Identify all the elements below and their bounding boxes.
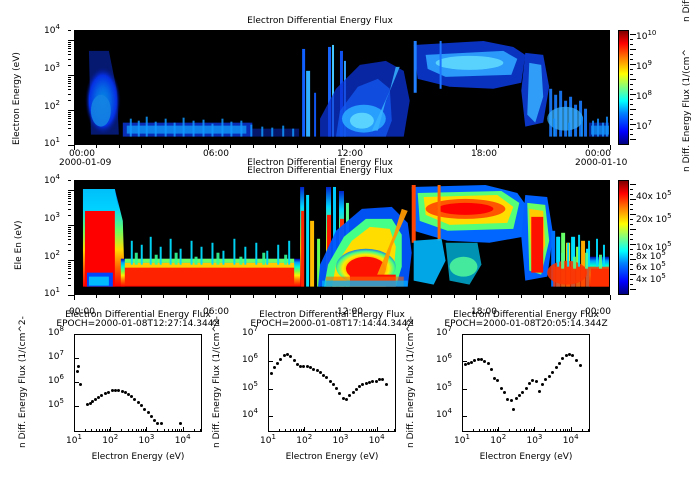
- data-point: [100, 394, 103, 397]
- panel1-cbar-tick-2: 108: [636, 92, 652, 102]
- spectrum-2-xtick-3: 104: [369, 436, 385, 446]
- panel1-ytick-minor: [68, 51, 71, 52]
- data-point: [140, 404, 143, 407]
- panel2-colorbar-label: n Diff. Energy Flux (1/(cm^: [682, 49, 692, 172]
- data-point: [345, 398, 348, 401]
- panel1-ytick-minor: [68, 40, 74, 41]
- panel2-ytick-minor: [68, 262, 71, 263]
- minor-tick-mark: [301, 429, 302, 432]
- tick-mark: [110, 427, 111, 432]
- panel1-spectrogram-image: [75, 31, 609, 145]
- data-point: [361, 383, 364, 386]
- panel1-xtick-minor: [498, 145, 499, 148]
- panel2-xtick-minor: [610, 295, 611, 300]
- panel2-colorbar-tick: [630, 194, 633, 195]
- tick-mark: [304, 427, 305, 432]
- panel1-colorbar-tick: [630, 54, 633, 55]
- tick-mark: [146, 427, 147, 432]
- panel1-xtick-minor: [186, 145, 187, 148]
- panel2-ytick-minor: [68, 250, 71, 251]
- tick-mark: [268, 389, 273, 390]
- data-point: [319, 371, 322, 374]
- panel1-xtick-minor: [253, 145, 254, 148]
- minor-tick-mark: [388, 429, 389, 432]
- spectrum-2-ylabel: n Diff. Energy Flux (1/(cm^2-: [212, 316, 222, 448]
- spectrum-2-xtick-2: 103: [332, 436, 348, 446]
- minor-tick-mark: [526, 429, 527, 432]
- panel1-ytick-minor: [68, 75, 74, 76]
- data-point: [133, 398, 136, 401]
- panel1-xtick-minor: [521, 145, 522, 148]
- panel2-colorbar-tick: [630, 204, 633, 205]
- data-point: [117, 389, 120, 392]
- panel2-ytick-minor: [68, 227, 71, 228]
- panel2-colorbar-tick: [630, 229, 636, 230]
- panel1-colorbar-tick: [630, 59, 633, 60]
- tick-mark: [268, 334, 273, 335]
- panel1-ytick-minor: [68, 59, 71, 60]
- panel1-colorbar-tick: [630, 114, 633, 115]
- minor-tick-mark: [560, 429, 561, 432]
- spectrum-2-xlabel: Electron Energy (eV): [228, 452, 436, 462]
- panel1-ytick-1: 103: [44, 64, 60, 74]
- panel2-xtick-minor: [230, 295, 231, 298]
- minor-tick-mark: [533, 429, 534, 432]
- panel2-xtick-minor: [409, 295, 410, 298]
- panel2-colorbar-tick: [630, 259, 636, 260]
- data-point: [312, 368, 315, 371]
- panel1-colorbar-tick: [630, 74, 633, 75]
- panel2-colorbar-tick: [630, 269, 633, 270]
- spectrum-1-plot[interactable]: [74, 334, 202, 432]
- spectrum-1-ytick-2: 106: [48, 376, 64, 386]
- minor-tick-mark: [107, 429, 108, 432]
- tick-mark: [268, 416, 273, 417]
- spectrum-2-xtick-1: 102: [296, 436, 312, 446]
- tick-mark: [462, 427, 463, 432]
- panel1-colorbar-tick: [630, 119, 633, 120]
- tick-mark: [74, 406, 79, 407]
- tick-mark: [462, 389, 467, 390]
- spectrum-3-xtick-3: 104: [563, 436, 579, 446]
- data-point: [487, 362, 490, 365]
- panel2-xtick-minor: [74, 295, 75, 300]
- data-point: [143, 408, 146, 411]
- data-point: [137, 401, 140, 404]
- data-point: [558, 362, 561, 365]
- data-point: [548, 375, 551, 378]
- minor-tick-mark: [375, 429, 376, 432]
- minor-tick-mark: [315, 429, 316, 432]
- minor-tick-mark: [369, 429, 370, 432]
- data-point: [293, 359, 296, 362]
- spectrum-2-xtick-0: 101: [260, 436, 276, 446]
- data-point: [335, 387, 338, 390]
- minor-tick-mark: [296, 429, 297, 432]
- data-point: [79, 383, 82, 386]
- panel2-cbar-tick-5: 4x 105: [636, 275, 666, 285]
- panel2-ytick-0: 104: [44, 176, 60, 186]
- panel1-ytick-minor: [68, 110, 74, 111]
- minor-tick-mark: [524, 429, 525, 432]
- data-point: [571, 354, 574, 357]
- panel2-xtick-minor: [186, 295, 187, 298]
- minor-tick-mark: [335, 429, 336, 432]
- panel1-colorbar-tick: [630, 129, 633, 130]
- minor-tick-mark: [358, 429, 359, 432]
- panel1-ytick-minor: [68, 54, 71, 55]
- panel1-ytick-minor: [68, 46, 71, 47]
- panel1-colorbar[interactable]: [618, 30, 629, 145]
- panel1-colorbar-tick: [630, 79, 636, 80]
- panel1-xtick-minor: [431, 145, 432, 148]
- panel2-ytick-minor: [68, 278, 71, 279]
- panel1-colorbar-tick: [630, 89, 633, 90]
- panel1-xtick-minor: [74, 145, 75, 150]
- panel1-colorbar-tick: [630, 109, 636, 110]
- data-point: [521, 391, 524, 394]
- minor-tick-mark: [484, 429, 485, 432]
- panel1-ytick-minor: [68, 83, 71, 84]
- minor-tick-mark: [588, 429, 589, 432]
- panel1-ytick-minor: [68, 86, 71, 87]
- minor-tick-mark: [85, 429, 86, 432]
- panel2-ytick-minor: [68, 266, 71, 267]
- panel2-xtick-minor: [364, 295, 365, 298]
- panel2-xtick-minor: [498, 295, 499, 298]
- panel2-xtick-minor: [320, 295, 321, 298]
- spectrum-3-xtick-2: 103: [526, 436, 542, 446]
- tick-mark: [534, 427, 535, 432]
- spectrum-3-ytick-2: 105: [436, 383, 452, 393]
- spectrum-1-xtick-3: 104: [175, 436, 191, 446]
- panel2-colorbar-tick: [630, 234, 633, 235]
- spectrum-3-ytick-3: 104: [436, 410, 452, 420]
- panel2-ytick-minor: [68, 271, 71, 272]
- panel1-colorbar-tick: [630, 84, 633, 85]
- panel2-ytick-minor: [68, 201, 71, 202]
- panel1-xtick-minor: [409, 145, 410, 148]
- spectrum-2-ytick-0: 107: [242, 328, 258, 338]
- spectrum-1-xtick-1: 102: [102, 436, 118, 446]
- panel2-cbar-tick-1: 20x 105: [636, 215, 672, 225]
- tick-mark: [268, 361, 273, 362]
- panel1-cbar-tick-1: 109: [636, 62, 652, 72]
- spectrum-2-ytick-3: 104: [242, 410, 258, 420]
- tick-mark: [74, 382, 79, 383]
- panel2-ytick-minor: [68, 231, 71, 232]
- minor-tick-mark: [293, 429, 294, 432]
- data-point: [107, 391, 110, 394]
- spectrum-1-xtick-0: 101: [66, 436, 82, 446]
- minor-tick-mark: [138, 429, 139, 432]
- panel1-colorbar-tick: [630, 139, 636, 140]
- tick-mark: [462, 334, 467, 335]
- panel1-ytick-3: 101: [44, 139, 60, 149]
- minor-tick-mark: [121, 429, 122, 432]
- panel1-colorbar-tick: [630, 34, 636, 35]
- minor-tick-mark: [394, 429, 395, 432]
- panel1-xtick-minor: [364, 145, 365, 148]
- data-point: [490, 368, 493, 371]
- data-point: [579, 364, 582, 367]
- data-point: [515, 397, 518, 400]
- panel1-colorbar-tick: [630, 69, 633, 70]
- panel1-xtick-minor: [476, 145, 477, 150]
- panel2-spectrogram-image: [75, 181, 609, 295]
- panel2-xtick-minor: [454, 295, 455, 298]
- minor-tick-mark: [164, 429, 165, 432]
- minor-tick-mark: [473, 429, 474, 432]
- panel1-ytick-minor: [68, 42, 71, 43]
- panel2-colorbar-tick: [630, 279, 633, 280]
- panel2-xtick-minor: [476, 295, 477, 300]
- spectrum-1-ytick-3: 105: [48, 400, 64, 410]
- panel2-colorbar-tick: [630, 249, 633, 250]
- panel2-xtick-minor: [342, 295, 343, 300]
- data-point: [531, 379, 534, 382]
- panel1-ytick-2: 102: [44, 102, 60, 112]
- minor-tick-mark: [109, 429, 110, 432]
- minor-tick-mark: [509, 429, 510, 432]
- panel1-ytick-minor: [68, 30, 71, 31]
- panel2-spectrogram[interactable]: [74, 180, 610, 295]
- minor-tick-mark: [563, 429, 564, 432]
- panel1-colorbar-tick: [630, 104, 633, 105]
- panel2-ytick-minor: [68, 244, 71, 245]
- data-point: [510, 399, 513, 402]
- panel2-xtick-minor: [141, 295, 142, 298]
- spectrum-1-ytick-1: 107: [48, 352, 64, 362]
- panel2-colorbar-tick: [630, 209, 633, 210]
- panel2-xtick-minor: [543, 295, 544, 298]
- minor-tick-mark: [332, 429, 333, 432]
- minor-tick-mark: [516, 429, 517, 432]
- figure-root: Electron Differential Energy Flux Electr…: [0, 0, 697, 492]
- tick-mark: [183, 427, 184, 432]
- minor-tick-mark: [105, 429, 106, 432]
- panel1-xtick-minor: [163, 145, 164, 148]
- spectrum-1-ylabel: n Diff. Energy Flux (1/(cm^2-: [18, 316, 28, 448]
- minor-tick-mark: [96, 429, 97, 432]
- tick-mark: [377, 427, 378, 432]
- data-point: [338, 392, 341, 395]
- minor-tick-mark: [565, 429, 566, 432]
- panel1-xtick-minor: [543, 145, 544, 148]
- panel1-ytick-minor: [68, 77, 71, 78]
- minor-tick-mark: [91, 429, 92, 432]
- panel1-cbar-tick-0: 1010: [636, 32, 656, 42]
- panel2-xtick-minor: [208, 295, 209, 300]
- panel2-xtick-minor: [96, 295, 97, 298]
- panel2-xtick-minor: [565, 295, 566, 298]
- panel2-ytick-minor: [68, 190, 74, 191]
- panel2-xtick-minor: [387, 295, 388, 298]
- panel1-ytick-minor: [68, 79, 71, 80]
- data-point: [302, 365, 305, 368]
- data-point: [541, 383, 544, 386]
- minor-tick-mark: [200, 429, 201, 432]
- minor-tick-mark: [330, 429, 331, 432]
- panel2-title: Electron Differential Energy Flux: [0, 166, 640, 176]
- data-point: [375, 380, 378, 383]
- panel2-xtick-minor: [297, 295, 298, 298]
- data-point: [473, 359, 476, 362]
- minor-tick-mark: [181, 429, 182, 432]
- data-point: [179, 422, 182, 425]
- spectrum-2-ytick-2: 105: [242, 383, 258, 393]
- data-point: [352, 391, 355, 394]
- panel1-ytick-minor: [68, 135, 71, 136]
- panel1-xtick-minor: [275, 145, 276, 148]
- tick-mark: [462, 361, 467, 362]
- panel2-xtick-minor: [119, 295, 120, 298]
- spectrum-3-ylabel: n Diff. Energy Flux (1/(cm^2-: [406, 316, 416, 448]
- panel2-ytick-minor: [68, 239, 71, 240]
- panel1-xtick-minor: [588, 145, 589, 148]
- minor-tick-mark: [531, 429, 532, 432]
- data-point: [160, 422, 163, 425]
- data-point: [371, 380, 374, 383]
- panel1-ytick-minor: [68, 100, 71, 101]
- data-point: [555, 366, 558, 369]
- panel2-ytick-minor: [68, 260, 74, 261]
- panel2-ytick-3: 101: [44, 289, 60, 299]
- panel2-colorbar-tick: [630, 284, 633, 285]
- panel1-ytick-minor: [68, 124, 71, 125]
- data-point: [381, 378, 384, 381]
- tick-mark: [74, 427, 75, 432]
- spectrum-2-ytick-1: 106: [242, 355, 258, 365]
- panel2-colorbar-tick: [630, 224, 633, 225]
- spectrum-3-xlabel: Electron Energy (eV): [422, 452, 630, 462]
- tick-mark: [462, 416, 467, 417]
- panel1-colorbar-tick: [630, 99, 633, 100]
- minor-tick-mark: [351, 429, 352, 432]
- panel1-xtick-minor: [454, 145, 455, 148]
- spectrum-3-plot[interactable]: [462, 334, 590, 432]
- panel2-colorbar-tick: [630, 254, 633, 255]
- minor-tick-mark: [371, 429, 372, 432]
- minor-tick-mark: [172, 429, 173, 432]
- panel2-xtick-minor: [253, 295, 254, 298]
- panel1-xtick-minor: [565, 145, 566, 148]
- tick-mark: [571, 427, 572, 432]
- minor-tick-mark: [194, 429, 195, 432]
- spectrum-1-ytick-0: 108: [48, 328, 64, 338]
- panel1-colorbar-tick: [630, 64, 636, 65]
- panel2-ytick-2: 102: [44, 252, 60, 262]
- panel2-colorbar[interactable]: [618, 180, 629, 295]
- panel1-ylabel: Electron Energy (eV): [12, 52, 22, 145]
- panel2-colorbar-tick: [630, 239, 633, 240]
- panel2-xtick-minor: [275, 295, 276, 298]
- minor-tick-mark: [569, 429, 570, 432]
- data-point: [355, 388, 358, 391]
- minor-tick-mark: [556, 429, 557, 432]
- panel2-ytick-minor: [68, 264, 71, 265]
- minor-tick-mark: [337, 429, 338, 432]
- panel2-colorbar-tick: [630, 289, 636, 290]
- minor-tick-mark: [141, 429, 142, 432]
- panel1-xtick-minor: [342, 145, 343, 150]
- panel1-ytick-minor: [68, 121, 71, 122]
- data-point: [279, 358, 282, 361]
- minor-tick-mark: [373, 429, 374, 432]
- panel1-xtick-minor: [119, 145, 120, 148]
- minor-tick-mark: [99, 429, 100, 432]
- panel1-colorbar-tick: [630, 134, 633, 135]
- panel1-colorbar-tick: [630, 94, 636, 95]
- panel2-ytick-minor: [68, 268, 71, 269]
- minor-tick-mark: [279, 429, 280, 432]
- spectrum-2-plot[interactable]: [268, 334, 396, 432]
- minor-tick-mark: [145, 429, 146, 432]
- panel2-ylabel: Ele En (eV): [14, 220, 24, 270]
- tick-mark: [340, 427, 341, 432]
- spectrum-1-xtick-2: 103: [138, 436, 154, 446]
- panel2-ytick-minor: [68, 196, 71, 197]
- spectrum-3-ytick-0: 107: [436, 328, 452, 338]
- panel2-ytick-1: 103: [44, 214, 60, 224]
- panel1-spectrogram[interactable]: [74, 30, 610, 145]
- data-point: [348, 394, 351, 397]
- minor-tick-mark: [136, 429, 137, 432]
- minor-tick-mark: [299, 429, 300, 432]
- spectrum-3-xtick-0: 101: [454, 436, 470, 446]
- panel1-colorbar-tick: [630, 49, 636, 50]
- panel2-ytick-minor: [68, 192, 71, 193]
- minor-tick-mark: [495, 429, 496, 432]
- spectrum-3-xtick-1: 102: [490, 436, 506, 446]
- panel1-ytick-minor: [68, 65, 71, 66]
- panel2-colorbar-tick: [630, 244, 636, 245]
- data-point: [503, 391, 506, 394]
- panel1-ytick-minor: [68, 48, 71, 49]
- panel1-colorbar-tick: [630, 44, 633, 45]
- panel2-colorbar-tick: [630, 199, 636, 200]
- minor-tick-mark: [582, 429, 583, 432]
- panel1-ytick-minor: [68, 128, 71, 129]
- panel1-xtick-minor: [387, 145, 388, 148]
- minor-tick-mark: [285, 429, 286, 432]
- data-point: [512, 408, 515, 411]
- panel1-colorbar-tick: [630, 39, 633, 40]
- panel2-xtick-minor: [588, 295, 589, 298]
- panel2-ytick-minor: [68, 274, 71, 275]
- minor-tick-mark: [179, 429, 180, 432]
- data-point: [525, 387, 528, 390]
- minor-tick-mark: [326, 429, 327, 432]
- panel2-xtick-minor: [521, 295, 522, 298]
- data-point: [77, 365, 80, 368]
- minor-tick-mark: [175, 429, 176, 432]
- data-point: [528, 382, 531, 385]
- data-point: [273, 366, 276, 369]
- minor-tick-mark: [497, 429, 498, 432]
- panel1-xtick-minor: [320, 145, 321, 148]
- panel1-ytick-minor: [68, 112, 71, 113]
- minor-tick-mark: [545, 429, 546, 432]
- minor-tick-mark: [362, 429, 363, 432]
- minor-tick-mark: [322, 429, 323, 432]
- panel2-cbar-tick-0: 40x 105: [636, 192, 672, 202]
- data-point: [150, 415, 153, 418]
- data-point: [483, 360, 486, 363]
- panel2-ytick-minor: [68, 229, 71, 230]
- tick-mark: [268, 427, 269, 432]
- panel1-xtick-minor: [208, 145, 209, 150]
